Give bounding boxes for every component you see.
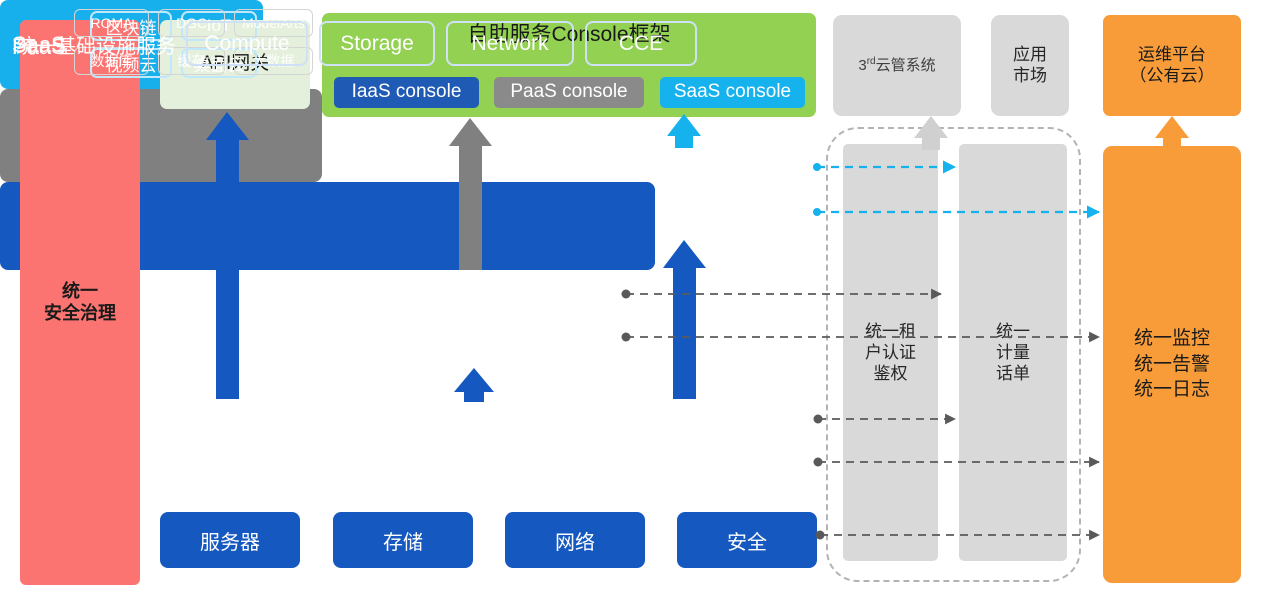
ops-platform-line2: （公有云） (1130, 66, 1215, 86)
third-party-cloud-management-box: 3rd云管系统 (833, 15, 961, 116)
security-governance-pillar: 统一 安全治理 (20, 20, 140, 585)
resource-box-storage[interactable]: 存储 (333, 512, 473, 568)
infra-service-cce[interactable]: CCE (585, 21, 697, 66)
svc-col-0-line1: 统一租 (865, 321, 916, 342)
arrow-infra-to-paas (454, 368, 494, 402)
svc-col-1-line2: 计量 (996, 342, 1030, 363)
app-market-box: 应用 市场 (991, 15, 1069, 116)
arrow-infra-to-saas (663, 240, 706, 399)
ops-pillar-line1: 统一监控 (1134, 326, 1210, 352)
infra-bar-label: 统一基础设施服务 (16, 0, 176, 88)
arrow-ops-pillar-to-ops-platform (1155, 116, 1189, 150)
ops-platform-public-cloud-box: 运维平台 （公有云） (1103, 15, 1241, 116)
saas-console-chip[interactable]: SaaS console (660, 77, 805, 108)
ops-pillar-line3: 统一日志 (1134, 377, 1210, 403)
resource-box-security[interactable]: 安全 (677, 512, 817, 568)
infra-service-storage[interactable]: Storage (319, 21, 435, 66)
iaas-console-chip[interactable]: IaaS console (334, 77, 479, 108)
svc-col-0-line3: 鉴权 (865, 363, 916, 384)
app-market-line1: 应用 (1013, 45, 1047, 65)
app-market-line2: 市场 (1013, 66, 1047, 86)
svc-col-1-line3: 话单 (996, 363, 1030, 384)
resource-box-server[interactable]: 服务器 (160, 512, 300, 568)
ops-pillar-line2: 统一告警 (1134, 352, 1210, 378)
architecture-diagram: 统一 安全治理 API网关 自助服务Console框架 IaaS console… (0, 0, 1265, 605)
unified-monitoring-pillar: 统一监控 统一告警 统一日志 (1103, 146, 1241, 583)
third-cloud-label: 3rd云管系统 (858, 56, 935, 75)
paas-console-chip[interactable]: PaaS console (494, 77, 644, 108)
svc-col-0-line2: 户认证 (865, 342, 916, 363)
security-pillar-line2: 安全治理 (44, 303, 116, 325)
svc-col-1-line1: 统一 (996, 321, 1030, 342)
security-pillar-line1: 统一 (44, 281, 116, 303)
ops-platform-line1: 运维平台 (1130, 45, 1215, 65)
infra-service-compute[interactable]: Compute (186, 21, 308, 66)
unified-tenant-auth-column: 统一租 户认证 鉴权 (843, 144, 938, 561)
resource-box-network[interactable]: 网络 (505, 512, 645, 568)
arrow-saas-to-console (667, 114, 701, 148)
infra-service-network[interactable]: Network (446, 21, 574, 66)
unified-metering-billing-column: 统一 计量 话单 (959, 144, 1067, 561)
